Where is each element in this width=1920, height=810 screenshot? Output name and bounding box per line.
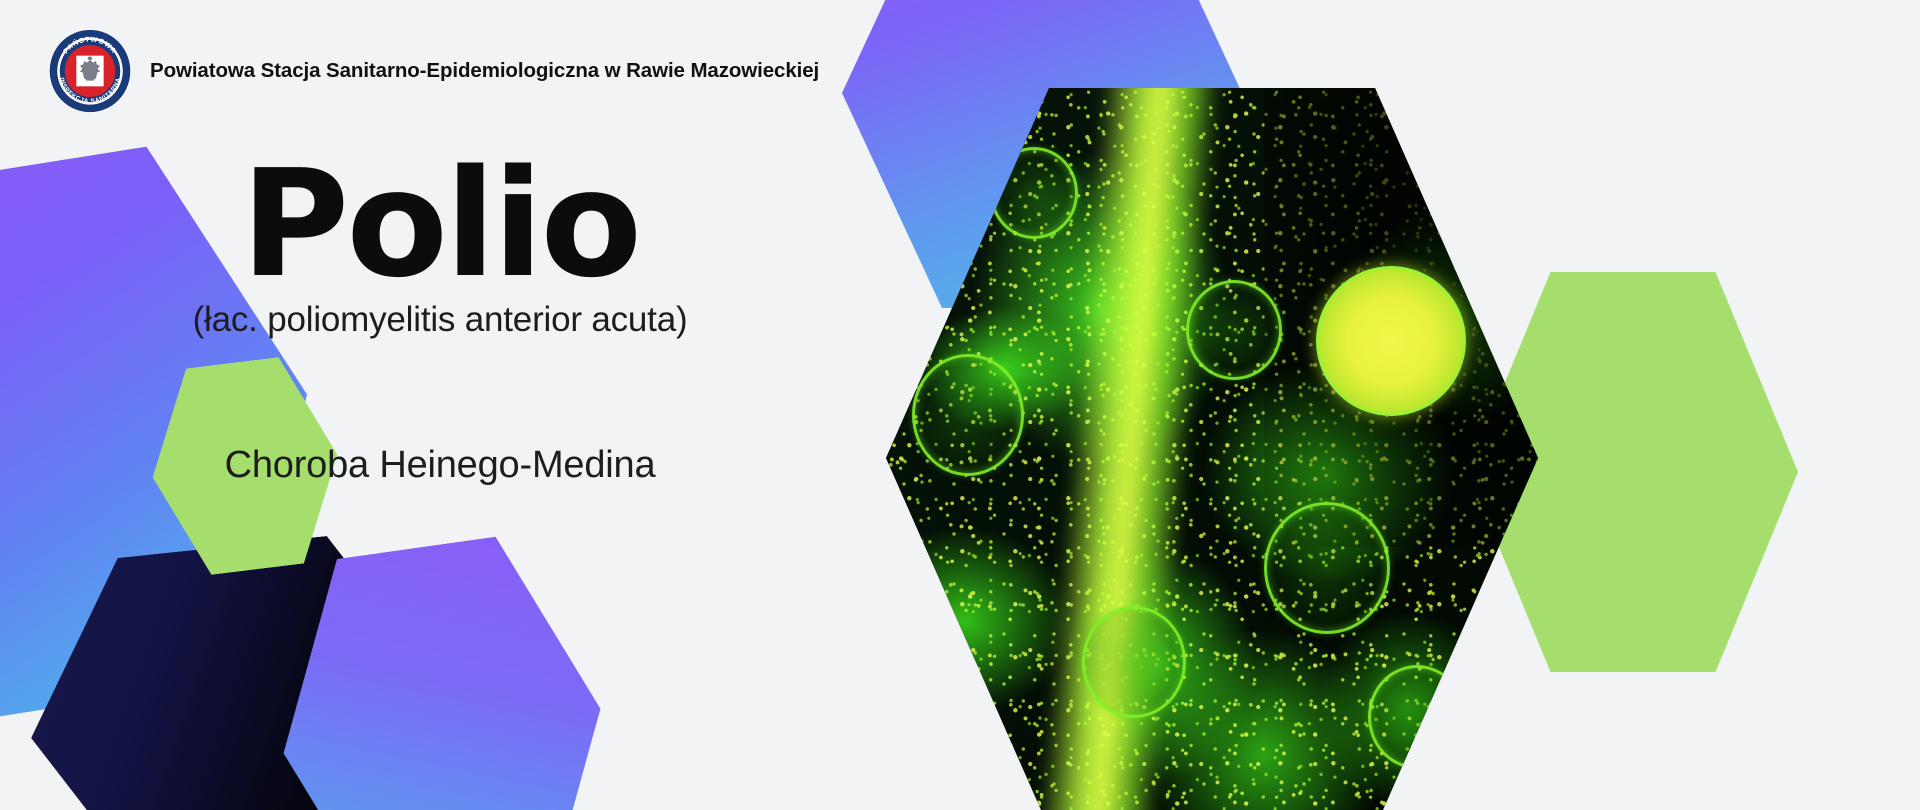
virus-particle (912, 354, 1024, 476)
virus-particle (1368, 665, 1466, 769)
page-title: Polio (0, 150, 880, 298)
organization-name: Powiatowa Stacja Sanitarno-Epidemiologic… (150, 59, 819, 83)
header: PAŃSTWOWA INSPEKCJA SANITARNA Powiatowa … (48, 28, 819, 114)
virus-particle (1186, 280, 1282, 380)
polio-info-banner: PAŃSTWOWA INSPEKCJA SANITARNA Powiatowa … (0, 0, 1920, 810)
virus-particle (1082, 606, 1186, 718)
latin-name: (łac. poliomyelitis anterior acuta) (0, 300, 880, 340)
virus-particle-highlighted (1316, 266, 1466, 416)
alternative-name: Choroba Heinego-Medina (0, 444, 880, 487)
title-block: Polio (łac. poliomyelitis anterior acuta… (0, 150, 880, 487)
virus-particle (1264, 502, 1390, 634)
sanitary-inspection-logo-icon: PAŃSTWOWA INSPEKCJA SANITARNA (48, 28, 132, 114)
